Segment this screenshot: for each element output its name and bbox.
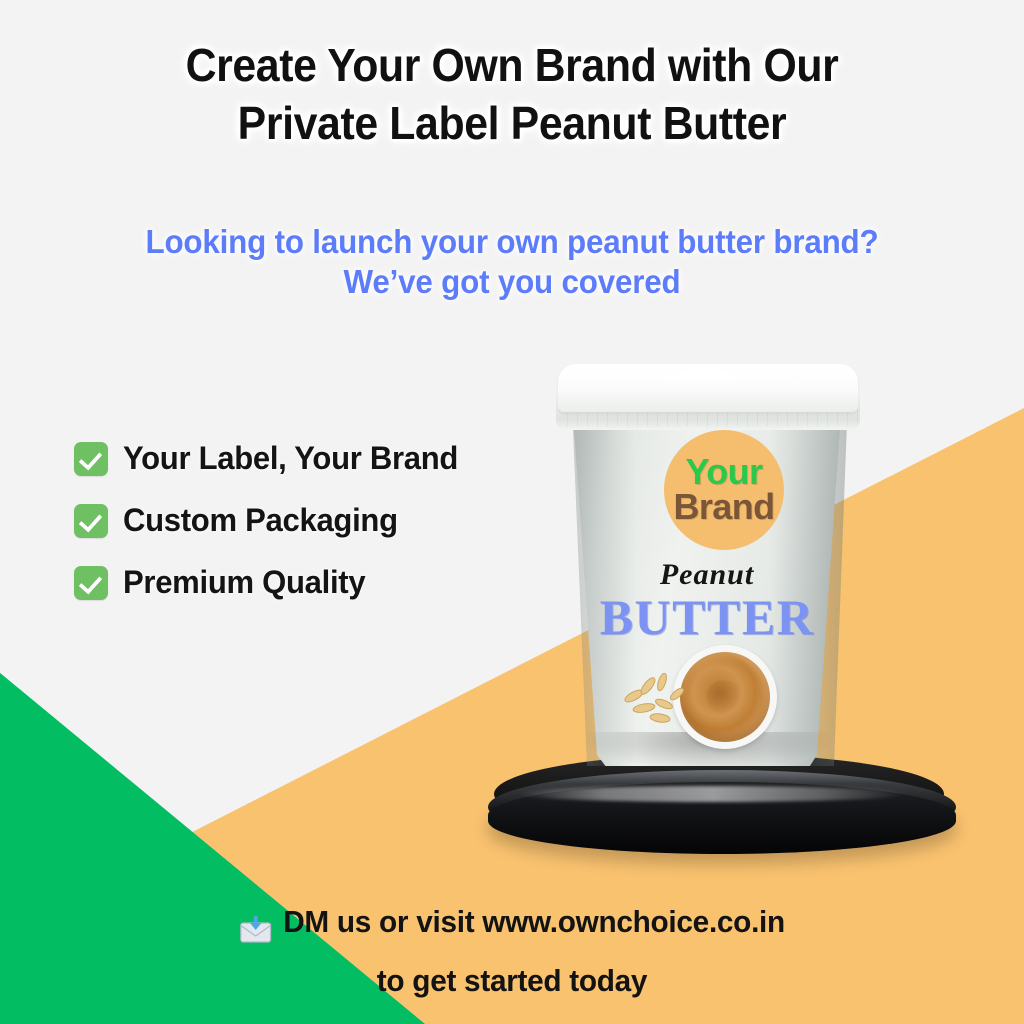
list-item-label: Premium Quality <box>123 564 365 601</box>
product-label-butter: BUTTER <box>470 588 944 646</box>
list-item: Premium Quality <box>74 564 468 601</box>
pedestal-highlight <box>518 786 908 802</box>
promotional-poster: Create Your Own Brand with Our Private L… <box>0 0 1024 1024</box>
subheadline: Looking to launch your own peanut butter… <box>26 222 999 302</box>
headline-line-2: Private Label Peanut Butter <box>36 94 988 152</box>
subheadline-line-2: We’ve got you covered <box>26 262 999 302</box>
cta-line-1-row: DM us or visit www.ownchoice.co.in <box>239 898 785 946</box>
brand-badge-line-2: Brand <box>673 490 774 525</box>
list-item: Custom Packaging <box>74 502 468 539</box>
list-item-label: Your Label, Your Brand <box>123 440 458 477</box>
check-mark-button-icon <box>74 504 108 538</box>
feature-list: Your Label, Your Brand Custom Packaging … <box>74 440 468 601</box>
check-mark-button-icon <box>74 566 108 600</box>
incoming-envelope-icon <box>239 909 272 936</box>
check-mark-button-icon <box>74 442 108 476</box>
call-to-action: DM us or visit www.ownchoice.co.in to ge… <box>20 898 1003 1005</box>
subheadline-line-1: Looking to launch your own peanut butter… <box>145 223 878 260</box>
cta-line-2: to get started today <box>20 957 1003 1005</box>
list-item-label: Custom Packaging <box>123 502 398 539</box>
brand-badge: Your Brand <box>664 430 784 550</box>
cta-line-1[interactable]: DM us or visit www.ownchoice.co.in <box>283 898 785 946</box>
peanut-butter-swirl <box>680 652 770 742</box>
product-image: Your Brand Peanut BUTTER <box>470 340 1010 860</box>
brand-badge-line-1: Your <box>686 455 763 490</box>
page-title: Create Your Own Brand with Our Private L… <box>36 36 988 152</box>
oat-flakes-icon <box>622 666 688 726</box>
product-label-peanut: Peanut <box>470 558 944 592</box>
headline-line-1: Create Your Own Brand with Our <box>186 39 839 91</box>
tub-lid-highlight <box>588 370 818 382</box>
list-item: Your Label, Your Brand <box>74 440 468 477</box>
